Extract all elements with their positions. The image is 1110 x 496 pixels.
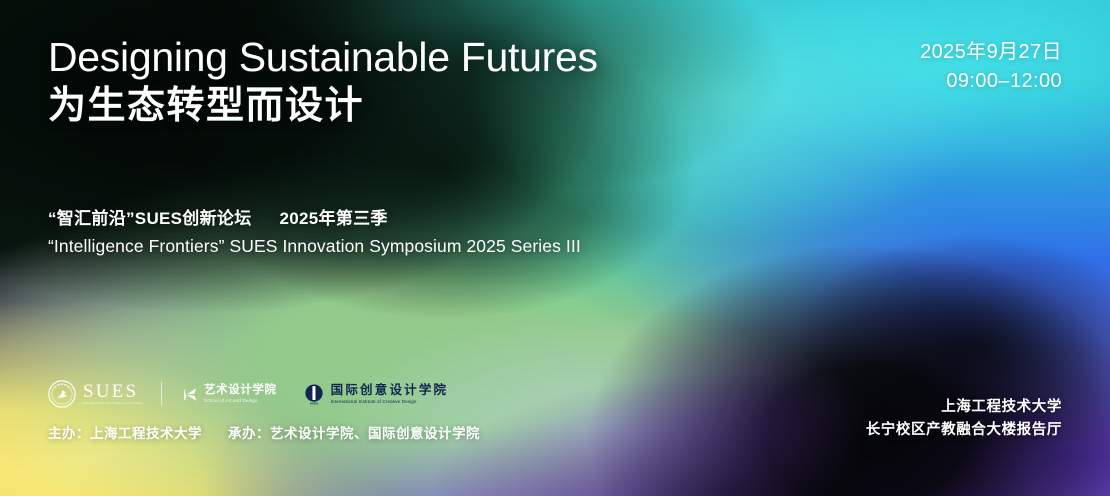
event-date: 2025年9月27日: [920, 38, 1062, 67]
title-english: Designing Sustainable Futures: [48, 32, 598, 82]
poster-canvas: Designing Sustainable Futures 为生态转型而设计 2…: [0, 0, 1110, 496]
sues-wordmark-subtitle: Shanghai University of Engineering Scien…: [83, 403, 142, 406]
series-chinese-main: “智汇前沿”SUES创新论坛: [48, 209, 252, 228]
venue-hall: 长宁校区产教融合大楼报告厅: [866, 419, 1062, 442]
logo-sues: SUES Shanghai University of Engineering …: [48, 380, 141, 408]
poster-content: Designing Sustainable Futures 为生态转型而设计 2…: [0, 0, 1110, 496]
sues-wordmark-group: SUES Shanghai University of Engineering …: [83, 382, 141, 406]
art-design-mark-icon: [182, 386, 199, 403]
series-english-line: “Intelligence Frontiers” SUES Innovation…: [48, 232, 581, 260]
svg-text:SUES: SUES: [309, 401, 317, 405]
co-organizer-text: 承办：艺术设计学院、国际创意设计学院: [228, 426, 480, 441]
iicd-name-cn: 国际创意设计学院: [331, 384, 449, 397]
art-design-name-cn: 艺术设计学院: [204, 385, 277, 397]
venue-university: 上海工程技术大学: [866, 396, 1062, 419]
title-block: Designing Sustainable Futures 为生态转型而设计: [48, 32, 598, 131]
iicd-name-en: International Institute of Creative Desi…: [331, 400, 449, 405]
hosts-line: 主办：上海工程技术大学承办：艺术设计学院、国际创意设计学院: [48, 424, 480, 444]
title-chinese: 为生态转型而设计: [48, 82, 598, 131]
organizer-text: 主办：上海工程技术大学: [48, 426, 202, 441]
datetime-block: 2025年9月27日 09:00–12:00: [920, 38, 1062, 96]
sues-seal-icon: [48, 380, 76, 408]
art-design-name-en: School of Art and Design: [204, 399, 277, 404]
logo-row: SUES Shanghai University of Engineering …: [48, 380, 448, 408]
sues-wordmark: SUES: [83, 382, 141, 401]
series-season: 2025年第三季: [280, 209, 388, 228]
iicd-text-group: 国际创意设计学院 International Institute of Crea…: [331, 384, 449, 404]
iicd-circle-mark-icon: SUES: [303, 383, 325, 405]
logo-divider: [161, 382, 162, 406]
art-design-text-group: 艺术设计学院 School of Art and Design: [204, 385, 277, 404]
event-time: 09:00–12:00: [920, 67, 1062, 96]
logo-iicd: SUES 国际创意设计学院 International Institute of…: [303, 383, 449, 405]
series-block: “智汇前沿”SUES创新论坛2025年第三季 “Intelligence Fro…: [48, 205, 581, 260]
logo-art-design: 艺术设计学院 School of Art and Design: [182, 385, 277, 404]
venue-block: 上海工程技术大学 长宁校区产教融合大楼报告厅: [866, 396, 1062, 443]
series-chinese-line: “智汇前沿”SUES创新论坛2025年第三季: [48, 205, 581, 232]
